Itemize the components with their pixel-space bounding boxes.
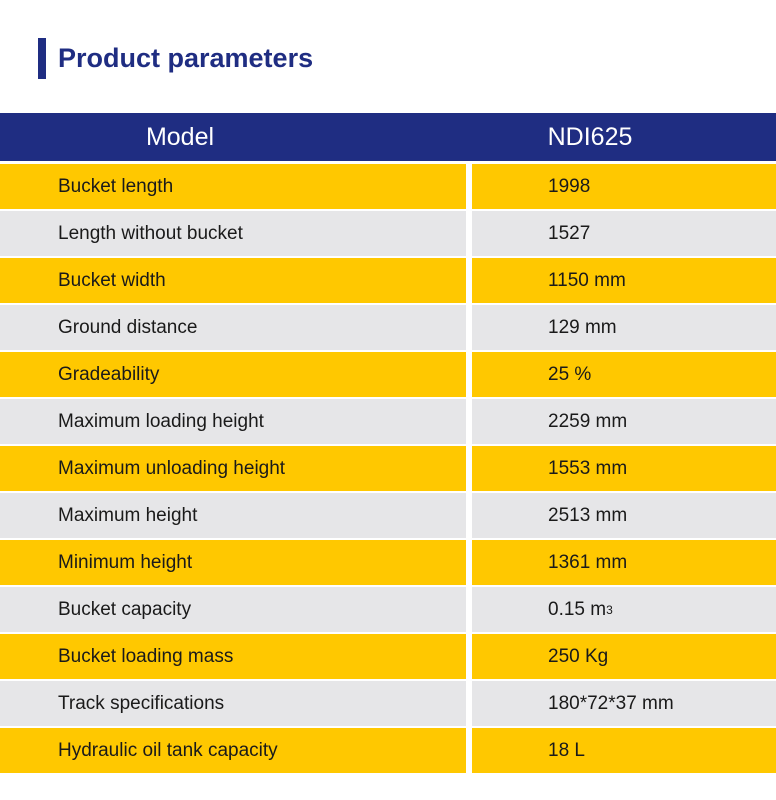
parameter-label: Bucket width bbox=[0, 258, 466, 303]
table-header-row: Model NDI625 bbox=[0, 113, 776, 161]
parameter-value-text: 0.15 m bbox=[548, 599, 606, 621]
parameter-label: Maximum unloading height bbox=[0, 446, 466, 491]
parameter-label: Ground distance bbox=[0, 305, 466, 350]
table-row: Maximum height2513 mm bbox=[0, 493, 776, 538]
parameter-value: 1150 mm bbox=[472, 258, 776, 303]
parameter-label: Maximum height bbox=[0, 493, 466, 538]
table-row: Maximum unloading height1553 mm bbox=[0, 446, 776, 491]
table-row: Gradeability25 % bbox=[0, 352, 776, 397]
table-row: Bucket loading mass250 Kg bbox=[0, 634, 776, 679]
parameter-label: Bucket length bbox=[0, 164, 466, 209]
parameter-label: Minimum height bbox=[0, 540, 466, 585]
parameter-value: 1527 bbox=[472, 211, 776, 256]
parameter-label: Maximum loading height bbox=[0, 399, 466, 444]
parameter-value: 1361 mm bbox=[472, 540, 776, 585]
table-row: Hydraulic oil tank capacity18 L bbox=[0, 728, 776, 773]
table-row: Maximum loading height2259 mm bbox=[0, 399, 776, 444]
parameter-value: 25 % bbox=[472, 352, 776, 397]
page-title: Product parameters bbox=[58, 38, 313, 79]
parameter-value: 129 mm bbox=[472, 305, 776, 350]
parameter-label: Gradeability bbox=[0, 352, 466, 397]
parameter-value: 2259 mm bbox=[472, 399, 776, 444]
parameter-value: 2513 mm bbox=[472, 493, 776, 538]
column-header-model-value: NDI625 bbox=[466, 113, 714, 161]
table-row: Minimum height1361 mm bbox=[0, 540, 776, 585]
table-row: Length without bucket1527 bbox=[0, 211, 776, 256]
title-accent-bar bbox=[38, 38, 46, 79]
parameter-value: 18 L bbox=[472, 728, 776, 773]
parameters-table: Model NDI625 Bucket length1998Length wit… bbox=[0, 113, 776, 773]
product-parameters-page: Product parameters Model NDI625 Bucket l… bbox=[0, 0, 776, 800]
parameter-value: 1553 mm bbox=[472, 446, 776, 491]
parameter-value: 0.15 m3 bbox=[472, 587, 776, 632]
parameter-label: Track specifications bbox=[0, 681, 466, 726]
table-body: Bucket length1998Length without bucket15… bbox=[0, 164, 776, 773]
parameter-value: 1998 bbox=[472, 164, 776, 209]
parameter-label: Length without bucket bbox=[0, 211, 466, 256]
parameter-value: 250 Kg bbox=[472, 634, 776, 679]
parameter-label: Hydraulic oil tank capacity bbox=[0, 728, 466, 773]
table-row: Track specifications180*72*37 mm bbox=[0, 681, 776, 726]
parameter-label: Bucket capacity bbox=[0, 587, 466, 632]
table-row: Bucket width1150 mm bbox=[0, 258, 776, 303]
table-row: Ground distance129 mm bbox=[0, 305, 776, 350]
table-row: Bucket length1998 bbox=[0, 164, 776, 209]
table-row: Bucket capacity0.15 m3 bbox=[0, 587, 776, 632]
parameter-label: Bucket loading mass bbox=[0, 634, 466, 679]
parameter-value: 180*72*37 mm bbox=[472, 681, 776, 726]
column-header-model: Model bbox=[0, 113, 360, 161]
title-block: Product parameters bbox=[0, 0, 776, 113]
